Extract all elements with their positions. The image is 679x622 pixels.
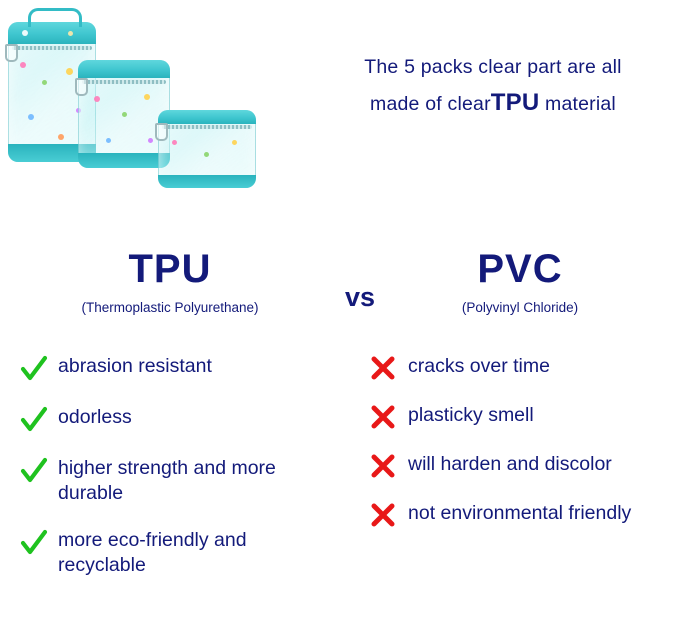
tpu-benefit-text: odorless <box>58 405 132 430</box>
check-icon <box>20 405 58 434</box>
tpu-subtitle: (Thermoplastic Polyurethane) <box>20 300 320 315</box>
product-photo <box>0 0 300 210</box>
pvc-drawback-list: cracks over time plasticky smell will ha… <box>370 354 670 550</box>
pouch-medium-print-dot <box>94 96 100 102</box>
list-item: odorless <box>20 405 320 434</box>
list-item: plasticky smell <box>370 403 670 430</box>
cross-icon <box>370 354 408 381</box>
pouch-small-zipper <box>162 125 252 129</box>
pouch-large-print-dot <box>20 62 26 68</box>
pouch-medium-zipper-pull <box>75 78 88 96</box>
tpu-benefit-list: abrasion resistant odorless higher stren… <box>20 354 320 600</box>
pouch-small-top-trim <box>158 110 256 124</box>
tpu-benefit-text: abrasion resistant <box>58 354 212 379</box>
pouch-small-print-dot <box>232 140 237 145</box>
comparison-section: vs TPU (Thermoplastic Polyurethane) abra… <box>0 248 679 622</box>
list-item: higher strength and more durable <box>20 456 320 506</box>
pvc-drawback-text: cracks over time <box>408 354 550 379</box>
pouch-medium-print-dot <box>122 112 127 117</box>
check-icon <box>20 528 58 557</box>
pouch-medium-top-trim <box>78 60 170 78</box>
list-item: more eco-friendly and recyclable <box>20 528 320 578</box>
cross-icon <box>370 501 408 528</box>
headline-material-name: TPU <box>491 89 540 116</box>
pouch-small-bottom-trim <box>158 175 256 188</box>
tpu-column: TPU (Thermoplastic Polyurethane) abrasio… <box>20 248 320 315</box>
check-icon <box>20 456 58 485</box>
pouch-large-print-dot <box>42 80 47 85</box>
tpu-benefit-text: more eco-friendly and recyclable <box>58 528 313 578</box>
tpu-title: TPU <box>20 248 320 290</box>
pouch-medium-print-dot <box>106 138 111 143</box>
pouch-medium-print-dot <box>148 138 153 143</box>
headline-line-1: The 5 packs clear part are all <box>312 52 674 84</box>
pvc-drawback-text: will harden and discolor <box>408 452 612 477</box>
pouch-large-zipper <box>12 46 92 50</box>
check-icon <box>20 354 58 383</box>
pvc-subtitle: (Polyvinyl Chloride) <box>370 300 670 315</box>
pvc-drawback-text: plasticky smell <box>408 403 534 428</box>
list-item: cracks over time <box>370 354 670 381</box>
pvc-title: PVC <box>370 248 670 290</box>
pouch-large-print-dot <box>28 114 34 120</box>
pouch-medium-print-dot <box>144 94 150 100</box>
list-item: will harden and discolor <box>370 452 670 479</box>
pouch-large-print-dot <box>68 31 73 36</box>
pouch-medium-zipper <box>82 80 166 84</box>
pouch-large-handle <box>28 8 82 27</box>
pouch-small-zipper-pull <box>155 123 168 141</box>
list-item: abrasion resistant <box>20 354 320 383</box>
pouch-large-print-dot <box>58 134 64 140</box>
pouch-large-zipper-pull <box>5 44 18 62</box>
headline-line-2: made of clearTPU material <box>312 84 674 123</box>
headline-line-2-prefix: made of clear <box>370 93 491 115</box>
pouch-large-print-dot <box>66 68 73 75</box>
pouch-small <box>158 110 256 188</box>
pouch-medium <box>78 60 170 168</box>
pvc-drawback-text: not environmental friendly <box>408 501 631 526</box>
pouch-medium-bottom-trim <box>78 153 170 168</box>
headline-line-2-suffix: material <box>545 93 616 115</box>
pouch-large-print-dot <box>22 30 28 36</box>
tpu-benefit-text: higher strength and more durable <box>58 456 313 506</box>
cross-icon <box>370 403 408 430</box>
pvc-column: PVC (Polyvinyl Chloride) cracks over tim… <box>370 248 670 315</box>
cross-icon <box>370 452 408 479</box>
list-item: not environmental friendly <box>370 501 670 528</box>
pouch-small-print-dot <box>172 140 177 145</box>
headline: The 5 packs clear part are all made of c… <box>312 52 674 122</box>
pouch-small-print-dot <box>204 152 209 157</box>
